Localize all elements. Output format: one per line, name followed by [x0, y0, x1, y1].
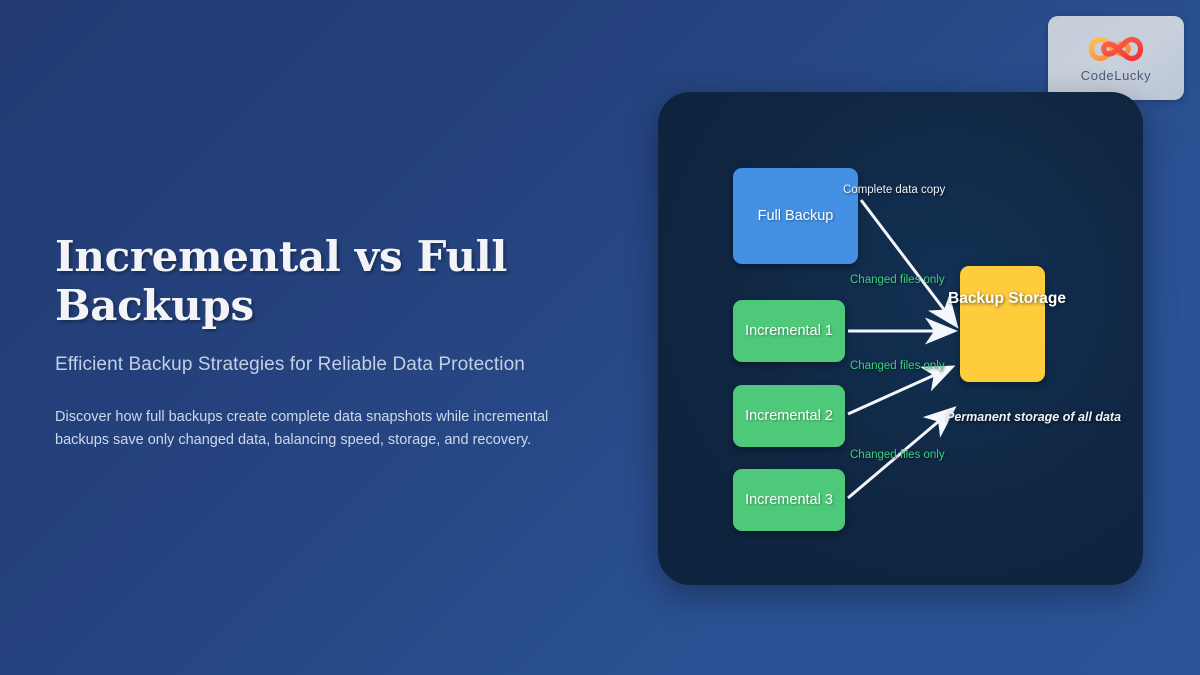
- diagram-canvas: Full Backup Incremental 1 Incremental 2 …: [658, 92, 1143, 585]
- node-incremental-1[interactable]: Incremental 1: [733, 300, 845, 362]
- page-description: Discover how full backups create complet…: [55, 406, 580, 452]
- brand-name: CodeLucky: [1081, 68, 1151, 83]
- edge-full-to-storage: [861, 200, 955, 324]
- backup-storage-title: Backup Storage: [948, 290, 1066, 308]
- brand-badge: CodeLucky: [1048, 16, 1184, 100]
- node-incremental-2[interactable]: Incremental 2: [733, 385, 845, 447]
- infinity-loop-icon: [1088, 34, 1144, 64]
- edge-label-changed-files-1: Changed files only: [850, 274, 945, 286]
- node-incremental-3[interactable]: Incremental 3: [733, 469, 845, 531]
- diagram-panel: Full Backup Incremental 1 Incremental 2 …: [658, 92, 1143, 585]
- diagram-connectors: [658, 92, 1143, 585]
- node-backup-storage[interactable]: [960, 266, 1045, 382]
- hero-text-column: Incremental vs Full Backups Efficient Ba…: [55, 232, 615, 452]
- edge-label-changed-files-2: Changed files only: [850, 360, 945, 372]
- edge-label-complete-data-copy: Complete data copy: [843, 184, 945, 196]
- edge-label-changed-files-3: Changed files only: [850, 449, 945, 461]
- node-full-backup[interactable]: Full Backup: [733, 168, 858, 264]
- backup-storage-subtitle: Permanent storage of all data: [946, 410, 1121, 424]
- edge-inc2-to-storage: [848, 368, 950, 414]
- page-subtitle: Efficient Backup Strategies for Reliable…: [55, 354, 615, 376]
- page-title: Incremental vs Full Backups: [55, 232, 615, 330]
